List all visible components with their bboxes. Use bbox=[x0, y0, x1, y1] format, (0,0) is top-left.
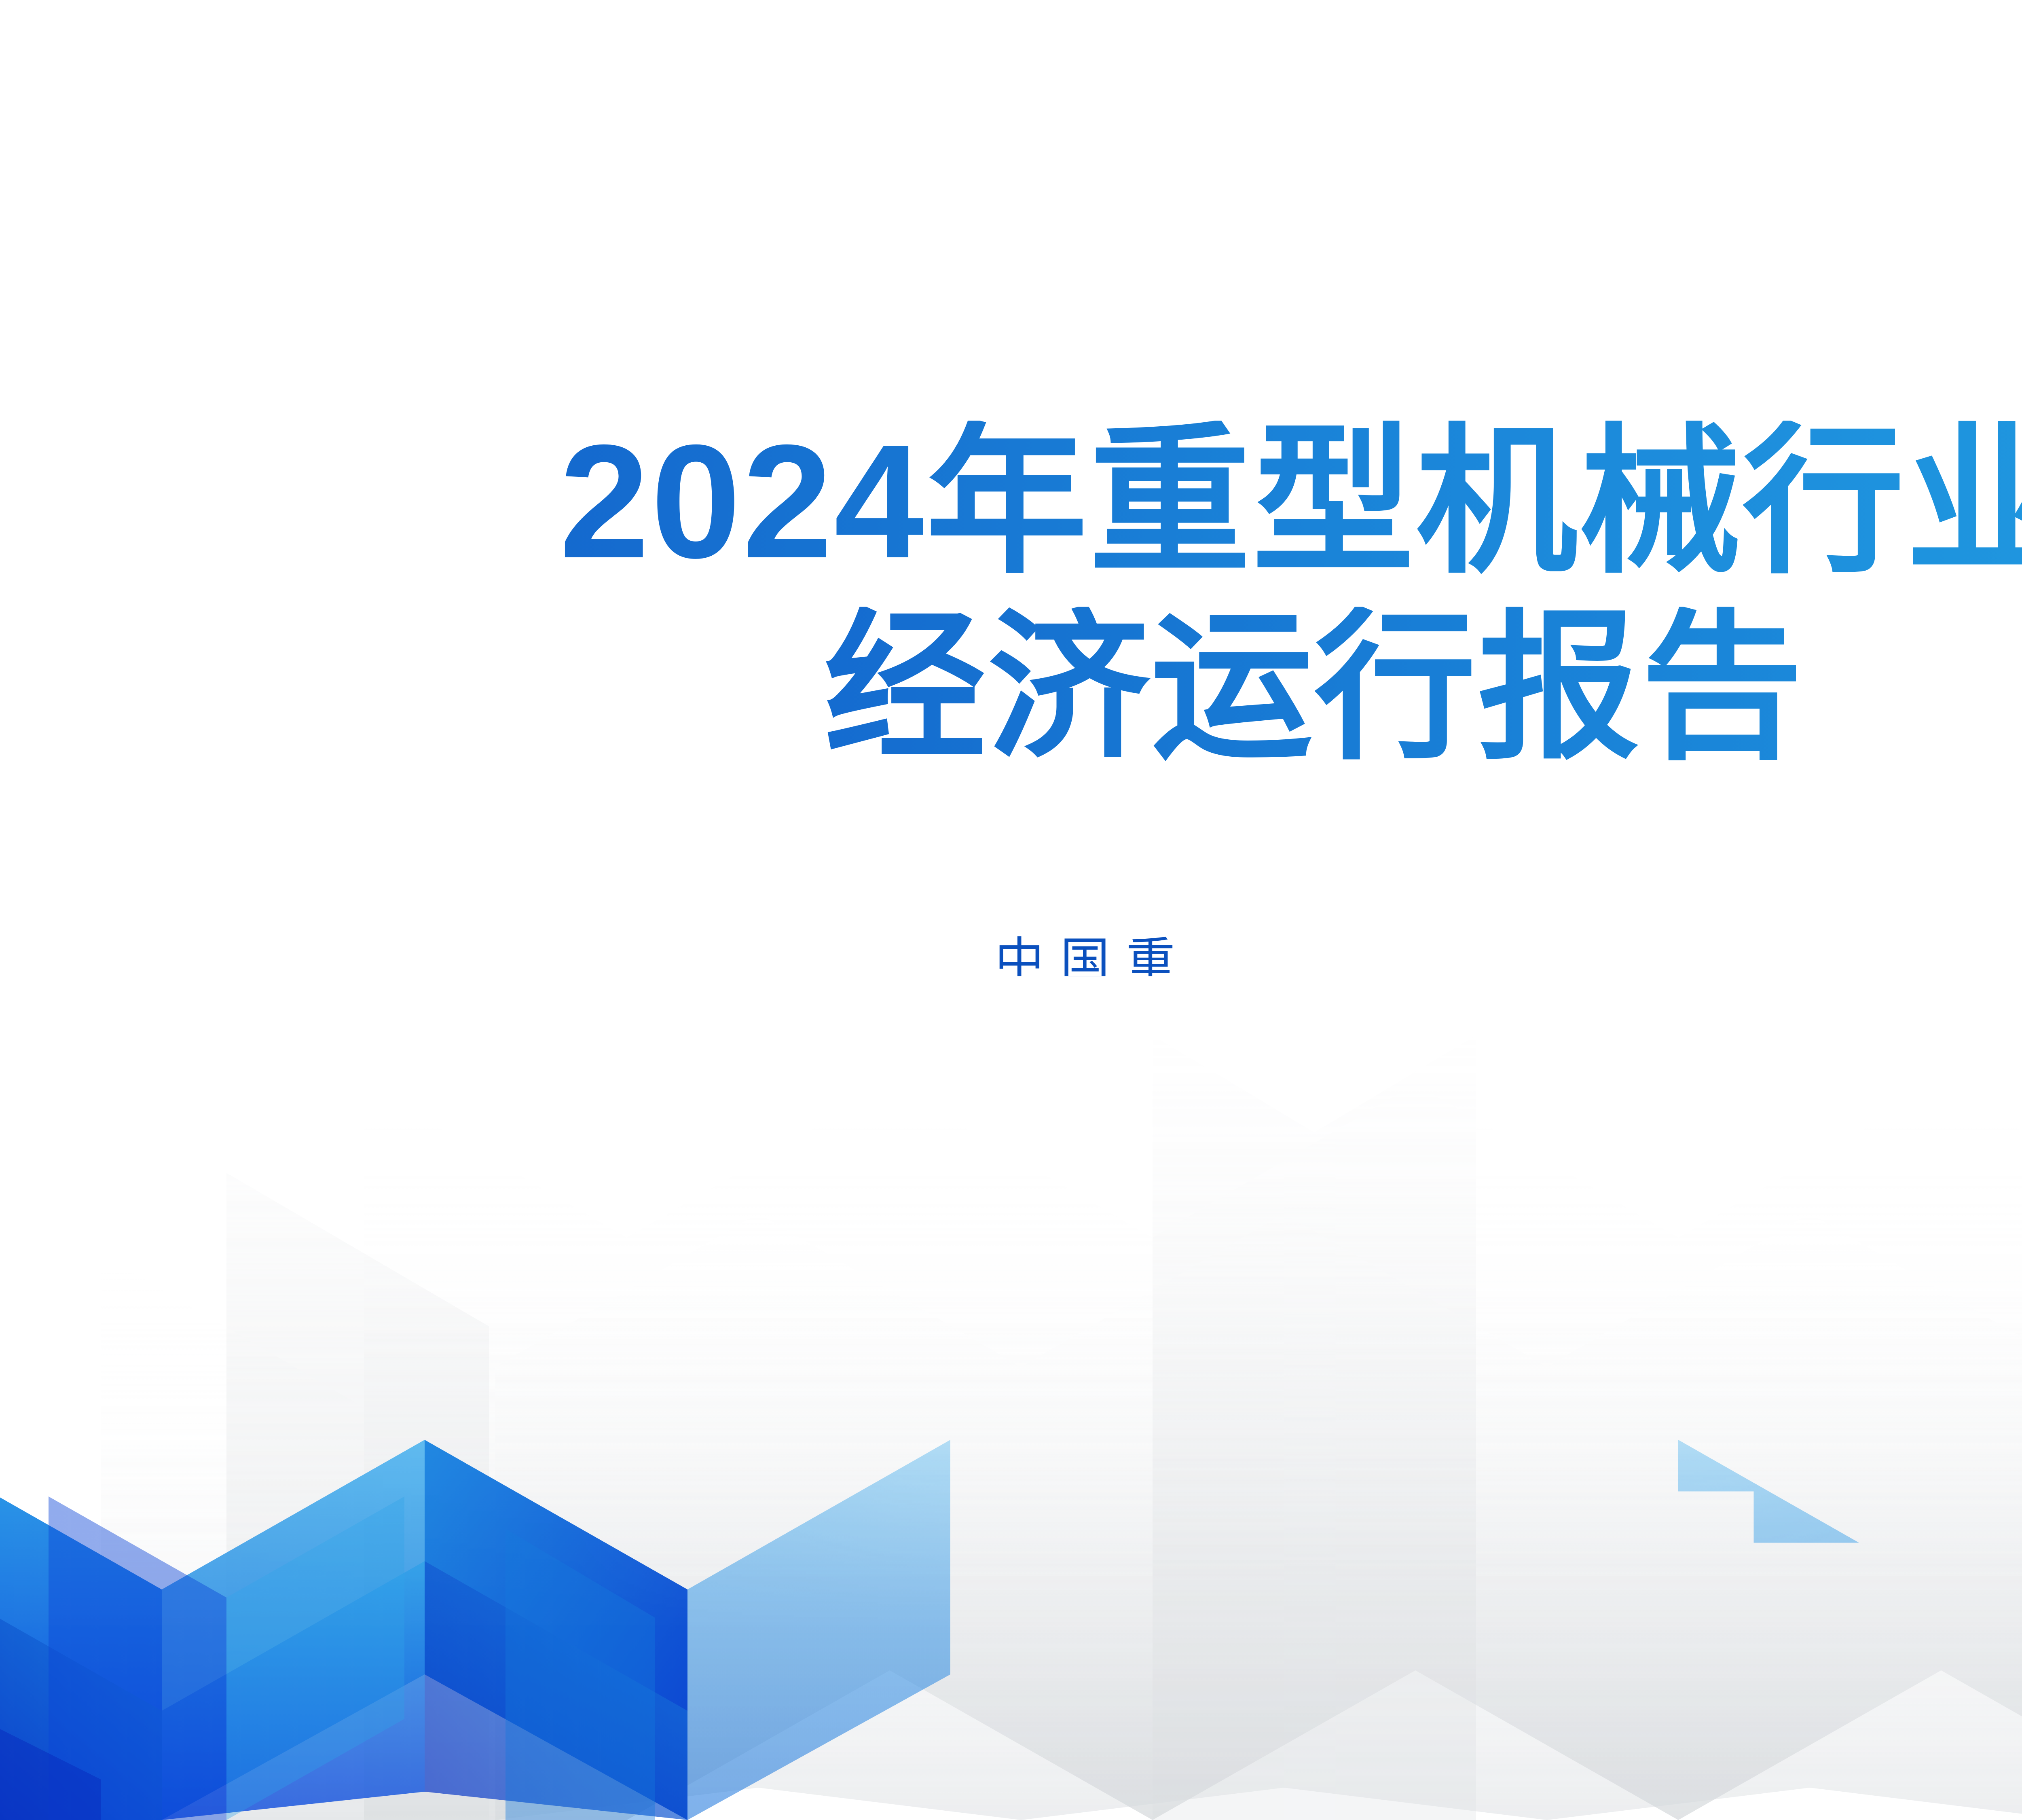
slide-content: 2024年重型机械行业 经济运行报告 中国重型机械工业协会 China Heav… bbox=[0, 0, 2022, 1820]
organization-name-english: China Heavy Machinery Industry Associati… bbox=[0, 1015, 2022, 1056]
page-title-line-2: 经济运行报告 bbox=[0, 607, 2022, 768]
page-title-line-1: 2024年重型机械行业 bbox=[0, 421, 2022, 582]
cover-title-block: 2024年重型机械行业 经济运行报告 bbox=[0, 421, 2022, 768]
organization-block: 中国重型机械工业协会 China Heavy Machinery Industr… bbox=[0, 930, 2022, 1056]
organization-name-chinese: 中国重型机械工业协会 bbox=[0, 930, 2022, 992]
